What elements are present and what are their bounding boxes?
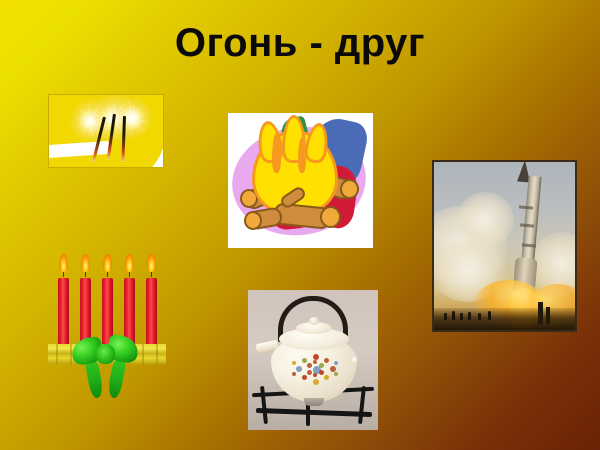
stove-grate-bar	[358, 386, 366, 424]
decal-flower	[292, 372, 296, 376]
rocket-smoke-cloud	[456, 192, 514, 248]
candles-image[interactable]	[48, 248, 166, 400]
tree-silhouette-icon	[444, 313, 447, 320]
band-stripe	[142, 344, 144, 364]
rocket-band	[520, 223, 534, 227]
candle-flame-icon	[125, 254, 134, 272]
rocket-launch-image[interactable]	[432, 160, 577, 332]
page-title: Огонь - друг	[0, 20, 600, 66]
decal-flower	[302, 375, 307, 380]
tree-silhouette-icon	[488, 311, 491, 320]
decal-flower	[319, 370, 324, 375]
kettle-floral-decal	[292, 352, 338, 386]
bow-tail-right	[106, 359, 126, 399]
stove-grate-bar	[256, 408, 372, 417]
decal-flower	[334, 361, 338, 365]
decal-flower	[324, 358, 329, 363]
tree-silhouette-icon	[460, 313, 463, 320]
decal-flower	[302, 358, 307, 363]
candle-flame-icon	[103, 254, 112, 272]
kettle-base	[304, 398, 324, 406]
candle-flame-icon	[147, 254, 156, 272]
decal-flower	[307, 370, 312, 375]
decal-flower	[313, 379, 319, 385]
sparklers-image[interactable]	[48, 94, 164, 168]
rocket-ground-silhouette	[434, 308, 575, 330]
candle-flame-icon	[59, 254, 68, 272]
candle-wick	[63, 272, 64, 277]
decal-flower	[307, 363, 312, 368]
candle-flame-icon	[81, 254, 90, 272]
presentation-slide: Огонь - друг	[0, 0, 600, 450]
candle-wick	[85, 272, 86, 277]
kettle-highlight	[351, 356, 358, 363]
candle-wick	[151, 272, 152, 277]
launch-tower-icon	[538, 302, 543, 324]
bow-tail-left	[84, 359, 104, 399]
rocket-band	[519, 205, 533, 209]
bow-knot	[96, 344, 115, 364]
tree-silhouette-icon	[478, 313, 481, 320]
campfire-log-end	[320, 206, 341, 228]
decal-flower	[292, 361, 296, 365]
decal-flower	[313, 373, 317, 377]
band-stripe	[156, 344, 158, 364]
campfire-log-end	[340, 179, 359, 199]
campfire-log-end	[244, 211, 262, 230]
candle-wick	[107, 272, 108, 277]
kettle-on-stove-image[interactable]	[248, 290, 378, 430]
tree-silhouette-icon	[468, 312, 471, 320]
tree-silhouette-icon	[452, 311, 455, 320]
decal-flower	[334, 372, 338, 376]
launch-tower-icon	[546, 307, 550, 324]
decal-flower	[313, 360, 317, 364]
campfire-image[interactable]	[228, 113, 373, 248]
kettle-lid-knob	[309, 317, 319, 325]
decal-flower	[319, 363, 324, 368]
decal-flower	[296, 366, 302, 372]
decal-flower	[324, 375, 329, 380]
band-stripe	[56, 344, 58, 364]
candle-wick	[129, 272, 130, 277]
